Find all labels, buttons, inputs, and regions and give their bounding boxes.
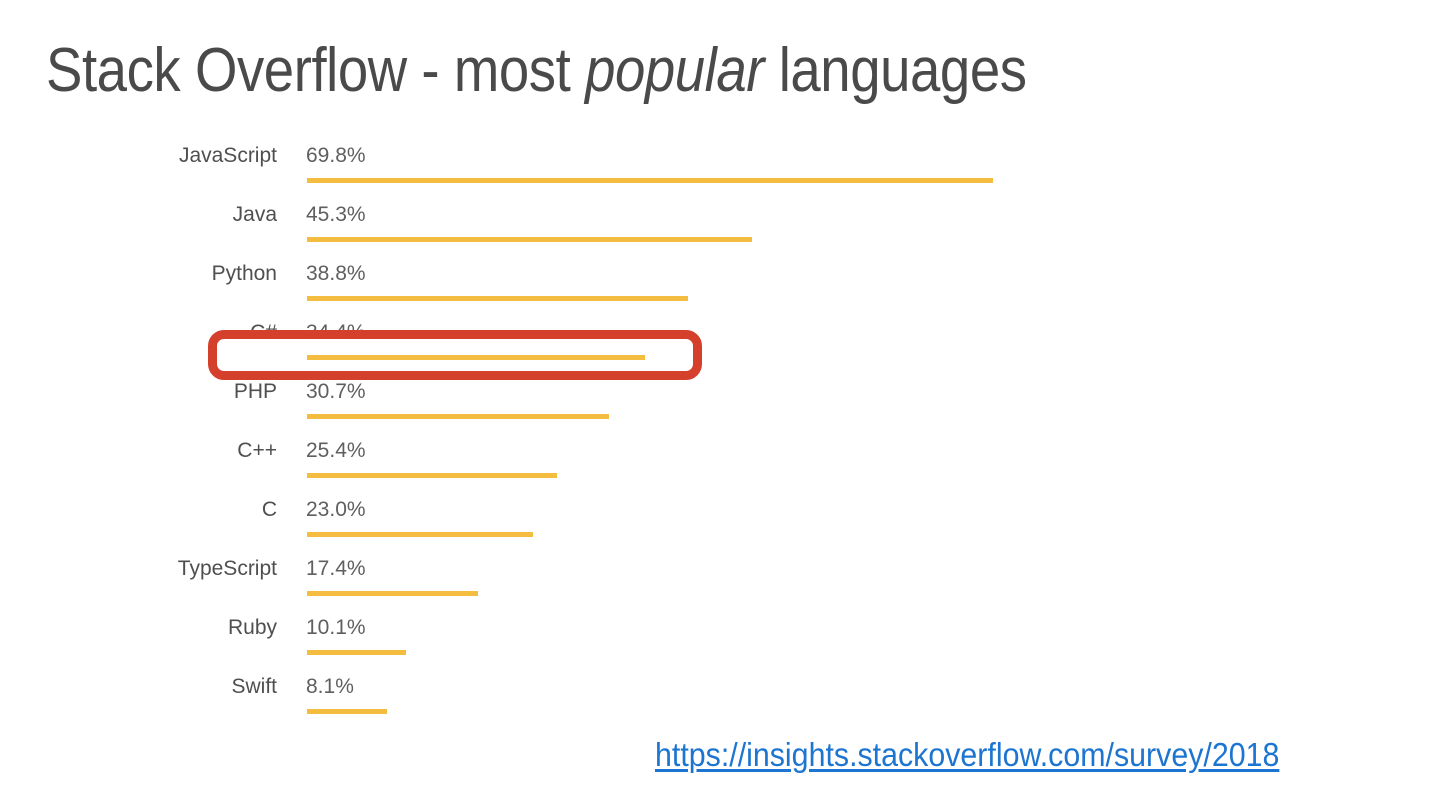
chart-row: TypeScript17.4% (0, 553, 1200, 612)
chart-bar (307, 178, 993, 183)
chart-bar (307, 237, 752, 242)
chart-bar-track (307, 414, 609, 419)
chart-row-label: Swift (0, 675, 277, 699)
chart-row-value: 17.4% (306, 557, 366, 581)
chart-row-label: C# (0, 321, 277, 345)
chart-row: PHP30.7% (0, 376, 1200, 435)
chart-row-label: Java (0, 203, 277, 227)
chart-row: Swift8.1% (0, 671, 1200, 730)
chart-row-value: 69.8% (306, 144, 366, 168)
chart-row-value: 25.4% (306, 439, 366, 463)
chart-bar (307, 414, 609, 419)
chart-bar-track (307, 178, 993, 183)
page-title-emphasis: popular (585, 36, 764, 105)
bar-chart: JavaScript69.8%Java45.3%Python38.8%C#34.… (0, 140, 1441, 740)
chart-bar-track (307, 709, 387, 714)
chart-bar (307, 591, 478, 596)
chart-row-label: TypeScript (0, 557, 277, 581)
chart-bar-track (307, 650, 406, 655)
chart-row-value: 45.3% (306, 203, 366, 227)
chart-row: JavaScript69.8% (0, 140, 1200, 199)
chart-bar-track (307, 532, 533, 537)
chart-row-label: PHP (0, 380, 277, 404)
chart-bar (307, 650, 406, 655)
chart-row: Ruby10.1% (0, 612, 1200, 671)
chart-bar (307, 532, 533, 537)
chart-row-value: 10.1% (306, 616, 366, 640)
chart-row-value: 38.8% (306, 262, 366, 286)
chart-row-value: 30.7% (306, 380, 366, 404)
page-title-part1: Stack Overflow - most (46, 36, 585, 105)
chart-bar (307, 473, 557, 478)
chart-row-label: C++ (0, 439, 277, 463)
chart-row: C23.0% (0, 494, 1200, 553)
chart-bar (307, 709, 387, 714)
chart-bar-track (307, 296, 688, 301)
page-title-part2: languages (764, 36, 1027, 105)
chart-row-label: Python (0, 262, 277, 286)
chart-bar (307, 355, 645, 360)
chart-row: Java45.3% (0, 199, 1200, 258)
chart-bar-track (307, 355, 645, 360)
chart-row: C#34.4% (0, 317, 1200, 376)
page-title: Stack Overflow - most popular languages (46, 38, 1027, 105)
chart-bar (307, 296, 688, 301)
source-url-link[interactable]: https://insights.stackoverflow.com/surve… (655, 736, 1279, 774)
chart-row-value: 23.0% (306, 498, 366, 522)
chart-bar-track (307, 237, 752, 242)
chart-bar-track (307, 473, 557, 478)
chart-row-value: 34.4% (306, 321, 366, 345)
chart-row-label: JavaScript (0, 144, 277, 168)
chart-row-label: Ruby (0, 616, 277, 640)
chart-row: C++25.4% (0, 435, 1200, 494)
chart-bar-track (307, 591, 478, 596)
chart-row-value: 8.1% (306, 675, 354, 699)
chart-row-label: C (0, 498, 277, 522)
chart-row: Python38.8% (0, 258, 1200, 317)
